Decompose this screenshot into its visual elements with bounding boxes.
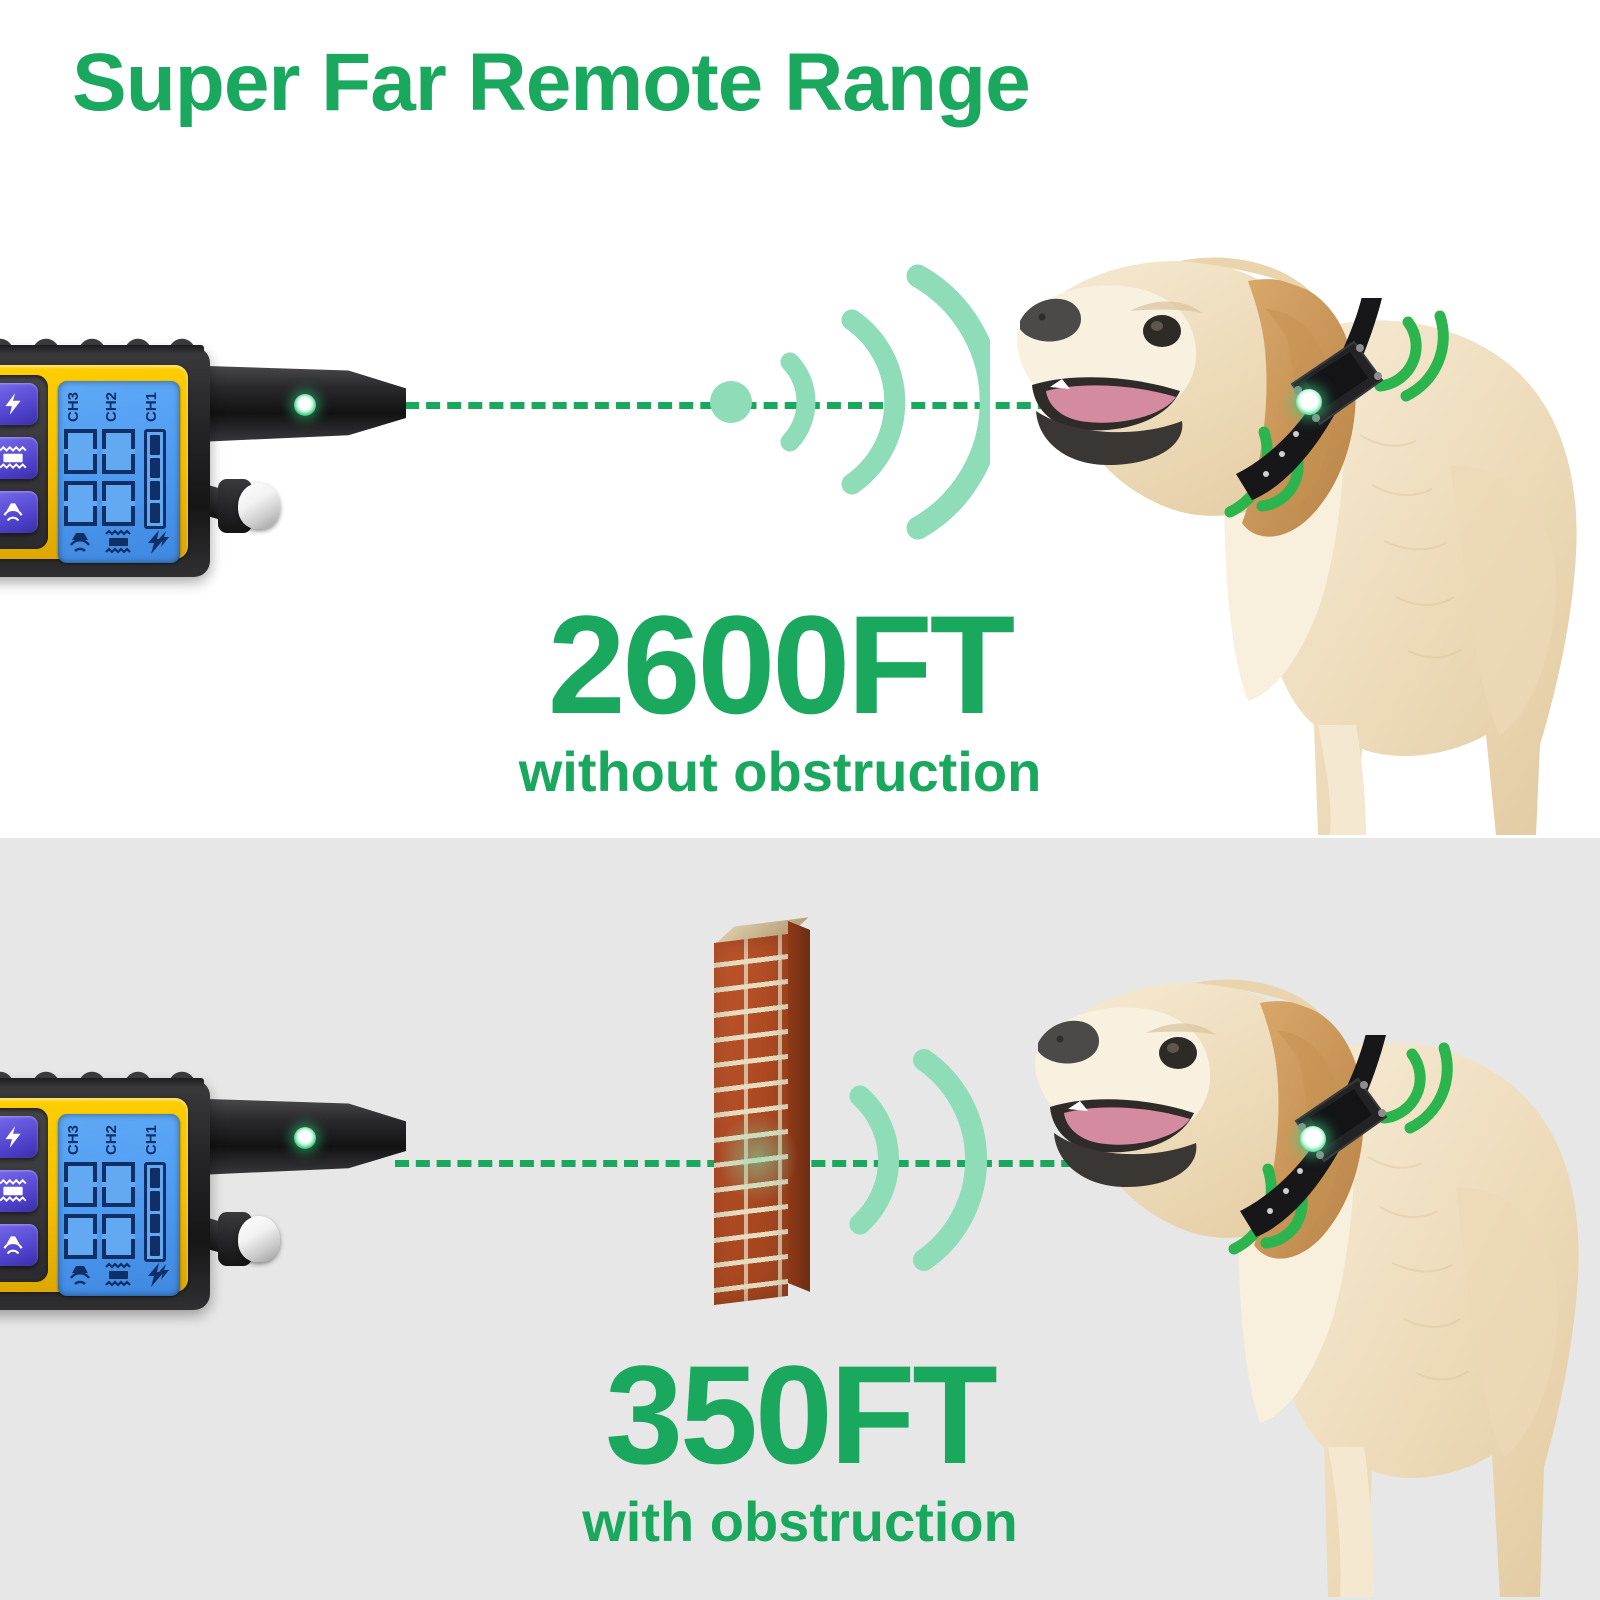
beep-button[interactable] <box>0 491 38 533</box>
beep-button[interactable] <box>0 1224 38 1266</box>
signal-pulse-dot <box>710 381 752 423</box>
seven-segment-digits <box>64 429 138 529</box>
collar-receiver-led-icon <box>1300 1126 1326 1152</box>
speaker-waves-icon <box>0 499 28 525</box>
battery-segment <box>150 458 160 478</box>
battery-segment <box>150 503 160 523</box>
antenna-arm <box>176 1098 406 1176</box>
battery-segment <box>150 1191 160 1211</box>
digit-cell <box>64 429 97 474</box>
range-callout-without-obstruction: 2600FT without obstruction <box>430 595 1130 803</box>
vibration-icon <box>104 529 134 555</box>
digit-cell <box>102 1162 135 1207</box>
digit-cell <box>64 1214 97 1259</box>
digit-cell <box>102 481 135 526</box>
battery-segment <box>150 1168 160 1188</box>
lcd-display: CH3 CH2 CH1 <box>58 1114 180 1296</box>
lcd-mode-icons <box>64 529 174 557</box>
lightning-bolt-icon <box>0 1124 28 1150</box>
yellow-faceplate: – | + <box>0 1098 188 1292</box>
antenna-arm <box>176 365 406 443</box>
battery-segment <box>150 435 160 455</box>
range-value: 350FT <box>450 1345 1150 1485</box>
range-callout-with-obstruction: 350FT with obstruction <box>450 1345 1150 1553</box>
rubber-grip <box>0 332 204 354</box>
collar-receiver-led-icon <box>1296 389 1322 415</box>
digit-cell <box>102 429 135 474</box>
remote-transmitter-bottom[interactable]: – | + <box>0 1058 420 1318</box>
lightning-bolt-icon <box>0 391 28 417</box>
antenna-body <box>176 1098 406 1176</box>
battery-segment <box>150 1236 160 1256</box>
range-caption: without obstruction <box>430 741 1130 803</box>
panel-without-obstruction: Super Far Remote Range <box>0 0 1600 838</box>
remote-housing: – | + <box>0 347 210 577</box>
beep-icon <box>66 529 94 555</box>
lcd-mode-icons <box>64 1262 174 1290</box>
vibration-button[interactable] <box>0 1170 38 1212</box>
shock-icon <box>144 529 170 555</box>
clip-bulb-icon <box>238 483 280 529</box>
channel-row: CH3 CH2 CH1 <box>64 1120 174 1160</box>
rubber-grip <box>0 1065 204 1087</box>
vibration-icon <box>104 1262 134 1288</box>
keypad-well: – | + <box>0 375 48 549</box>
channel-label-ch1: CH1 <box>144 1120 159 1160</box>
battery-segment <box>150 1214 160 1234</box>
shock-button[interactable] <box>0 1116 38 1158</box>
battery-indicator <box>144 429 166 529</box>
channel-label-ch2: CH2 <box>104 1120 119 1160</box>
battery-segment <box>150 481 160 501</box>
shock-icon <box>144 1262 170 1288</box>
lcd-display: CH3 CH2 CH1 <box>58 381 180 563</box>
yellow-faceplate: – | + <box>0 365 188 559</box>
range-caption: with obstruction <box>450 1491 1150 1553</box>
digit-cell <box>102 1214 135 1259</box>
transmit-led-icon <box>294 1127 316 1149</box>
signal-waves-attenuated <box>820 1020 1020 1300</box>
digit-cell <box>64 1162 97 1207</box>
digit-cell <box>64 481 97 526</box>
antenna-body <box>176 365 406 443</box>
wall-front-face <box>714 934 788 1305</box>
remote-housing: – | + <box>0 1080 210 1310</box>
clip-bulb-icon <box>238 1216 280 1262</box>
vibration-icon <box>0 1178 28 1204</box>
battery-indicator <box>144 1162 166 1262</box>
channel-label-ch3: CH3 <box>66 1120 81 1160</box>
range-value: 2600FT <box>430 595 1130 735</box>
marketing-infographic: Super Far Remote Range <box>0 0 1600 1600</box>
seven-segment-digits <box>64 1162 138 1262</box>
channel-label-ch3: CH3 <box>66 387 81 427</box>
remote-transmitter-top[interactable]: – | + <box>0 325 420 585</box>
channel-row: CH3 CH2 CH1 <box>64 387 174 427</box>
wall-side-face <box>788 921 810 1292</box>
beep-icon <box>66 1262 94 1288</box>
channel-label-ch2: CH2 <box>104 387 119 427</box>
panel-with-obstruction: – | + <box>0 838 1600 1600</box>
transmit-led-icon <box>294 394 316 416</box>
vibration-button[interactable] <box>0 437 38 479</box>
vibration-icon <box>0 445 28 471</box>
shock-button[interactable] <box>0 383 38 425</box>
keypad-well: – | + <box>0 1108 48 1282</box>
bottom-stage: – | + <box>0 838 1600 1600</box>
brick-wall-obstruction <box>714 925 810 1305</box>
page-title: Super Far Remote Range <box>72 36 1030 130</box>
speaker-waves-icon <box>0 1232 28 1258</box>
signal-waves-full <box>760 252 990 552</box>
channel-label-ch1: CH1 <box>144 387 159 427</box>
